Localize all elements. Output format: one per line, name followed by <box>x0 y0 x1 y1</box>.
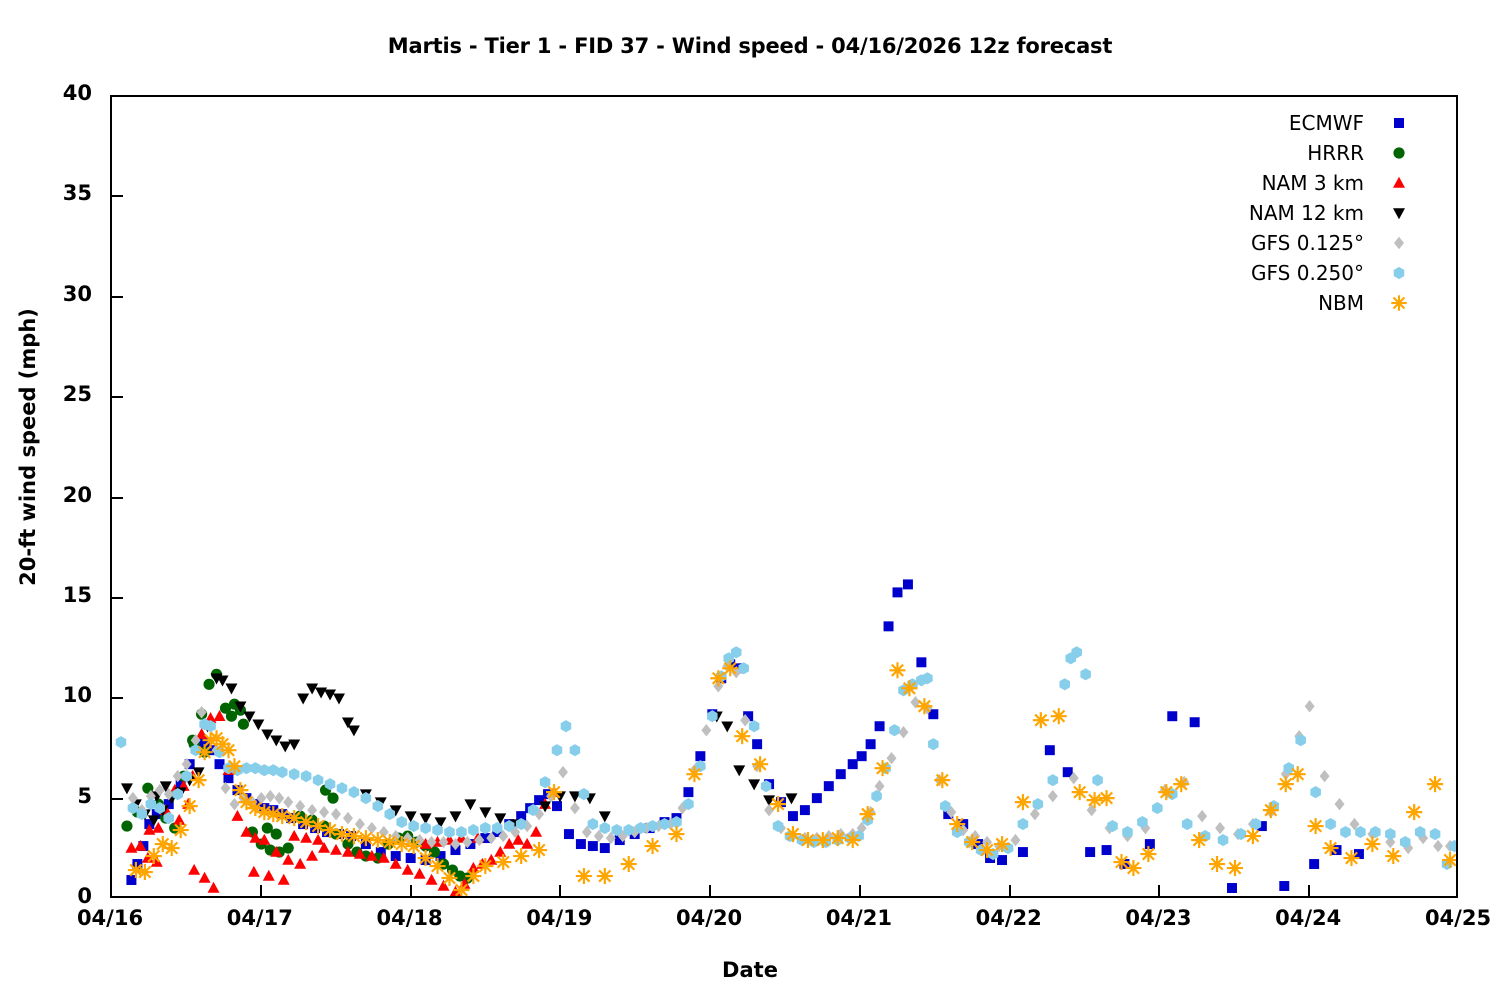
y-tick-label: 40 <box>22 81 92 105</box>
legend-item-nam-12-km[interactable]: NAM 12 km <box>1150 198 1410 228</box>
page-title: Martis - Tier 1 - FID 37 - Wind speed - … <box>0 34 1500 58</box>
diamond-marker-icon <box>1388 232 1410 254</box>
x-tick-mark <box>1158 885 1160 898</box>
x-tick-label: 04/18 <box>350 906 470 930</box>
legend-item-gfs-0-250[interactable]: GFS 0.250° <box>1150 258 1410 288</box>
legend-label: NAM 12 km <box>1249 201 1388 225</box>
legend-label: GFS 0.125° <box>1251 231 1388 255</box>
legend-label: NAM 3 km <box>1262 171 1388 195</box>
x-tick-mark <box>559 885 561 898</box>
y-tick-mark <box>110 195 123 197</box>
x-tick-label: 04/21 <box>799 906 919 930</box>
legend-item-nbm[interactable]: NBM <box>1150 288 1410 318</box>
y-tick-mark <box>110 296 123 298</box>
y-tick-mark <box>110 597 123 599</box>
x-tick-mark <box>709 885 711 898</box>
y-tick-mark <box>110 497 123 499</box>
legend-item-ecmwf[interactable]: ECMWF <box>1150 108 1410 138</box>
y-tick-label: 35 <box>22 181 92 205</box>
x-tick-label: 04/22 <box>949 906 1069 930</box>
legend-label: HRRR <box>1307 141 1388 165</box>
x-tick-label: 04/24 <box>1248 906 1368 930</box>
y-tick-label: 5 <box>22 784 92 808</box>
legend-item-gfs-0-125[interactable]: GFS 0.125° <box>1150 228 1410 258</box>
circle-marker-icon <box>1388 142 1410 164</box>
x-tick-label: 04/23 <box>1098 906 1218 930</box>
x-tick-mark <box>1308 885 1310 898</box>
x-tick-label: 04/19 <box>499 906 619 930</box>
y-axis-label: 20-ft wind speed (mph) <box>16 267 40 627</box>
x-tick-mark <box>859 885 861 898</box>
y-tick-mark <box>110 396 123 398</box>
asterisk-marker-icon <box>1388 292 1410 314</box>
legend-item-hrrr[interactable]: HRRR <box>1150 138 1410 168</box>
square-marker-icon <box>1388 112 1410 134</box>
legend-label: NBM <box>1318 291 1388 315</box>
wind-speed-forecast-figure: Martis - Tier 1 - FID 37 - Wind speed - … <box>0 0 1500 1000</box>
x-tick-mark <box>260 885 262 898</box>
y-tick-label: 10 <box>22 683 92 707</box>
x-tick-label: 04/20 <box>649 906 769 930</box>
x-tick-mark <box>1009 885 1011 898</box>
triangle-down-marker-icon <box>1388 202 1410 224</box>
x-tick-label: 04/17 <box>200 906 320 930</box>
legend-label: ECMWF <box>1289 111 1388 135</box>
x-tick-mark <box>410 885 412 898</box>
triangle-up-marker-icon <box>1388 172 1410 194</box>
legend-item-nam-3-km[interactable]: NAM 3 km <box>1150 168 1410 198</box>
x-tick-label: 04/25 <box>1398 906 1500 930</box>
hexagon-marker-icon <box>1388 262 1410 284</box>
y-tick-mark <box>110 798 123 800</box>
legend: ECMWFHRRRNAM 3 kmNAM 12 kmGFS 0.125°GFS … <box>1150 108 1410 318</box>
y-tick-mark <box>110 697 123 699</box>
x-axis-label: Date <box>0 958 1500 982</box>
legend-label: GFS 0.250° <box>1251 261 1388 285</box>
y-tick-label: 0 <box>22 884 92 908</box>
series-nbm <box>128 660 1456 896</box>
x-tick-label: 04/16 <box>50 906 170 930</box>
